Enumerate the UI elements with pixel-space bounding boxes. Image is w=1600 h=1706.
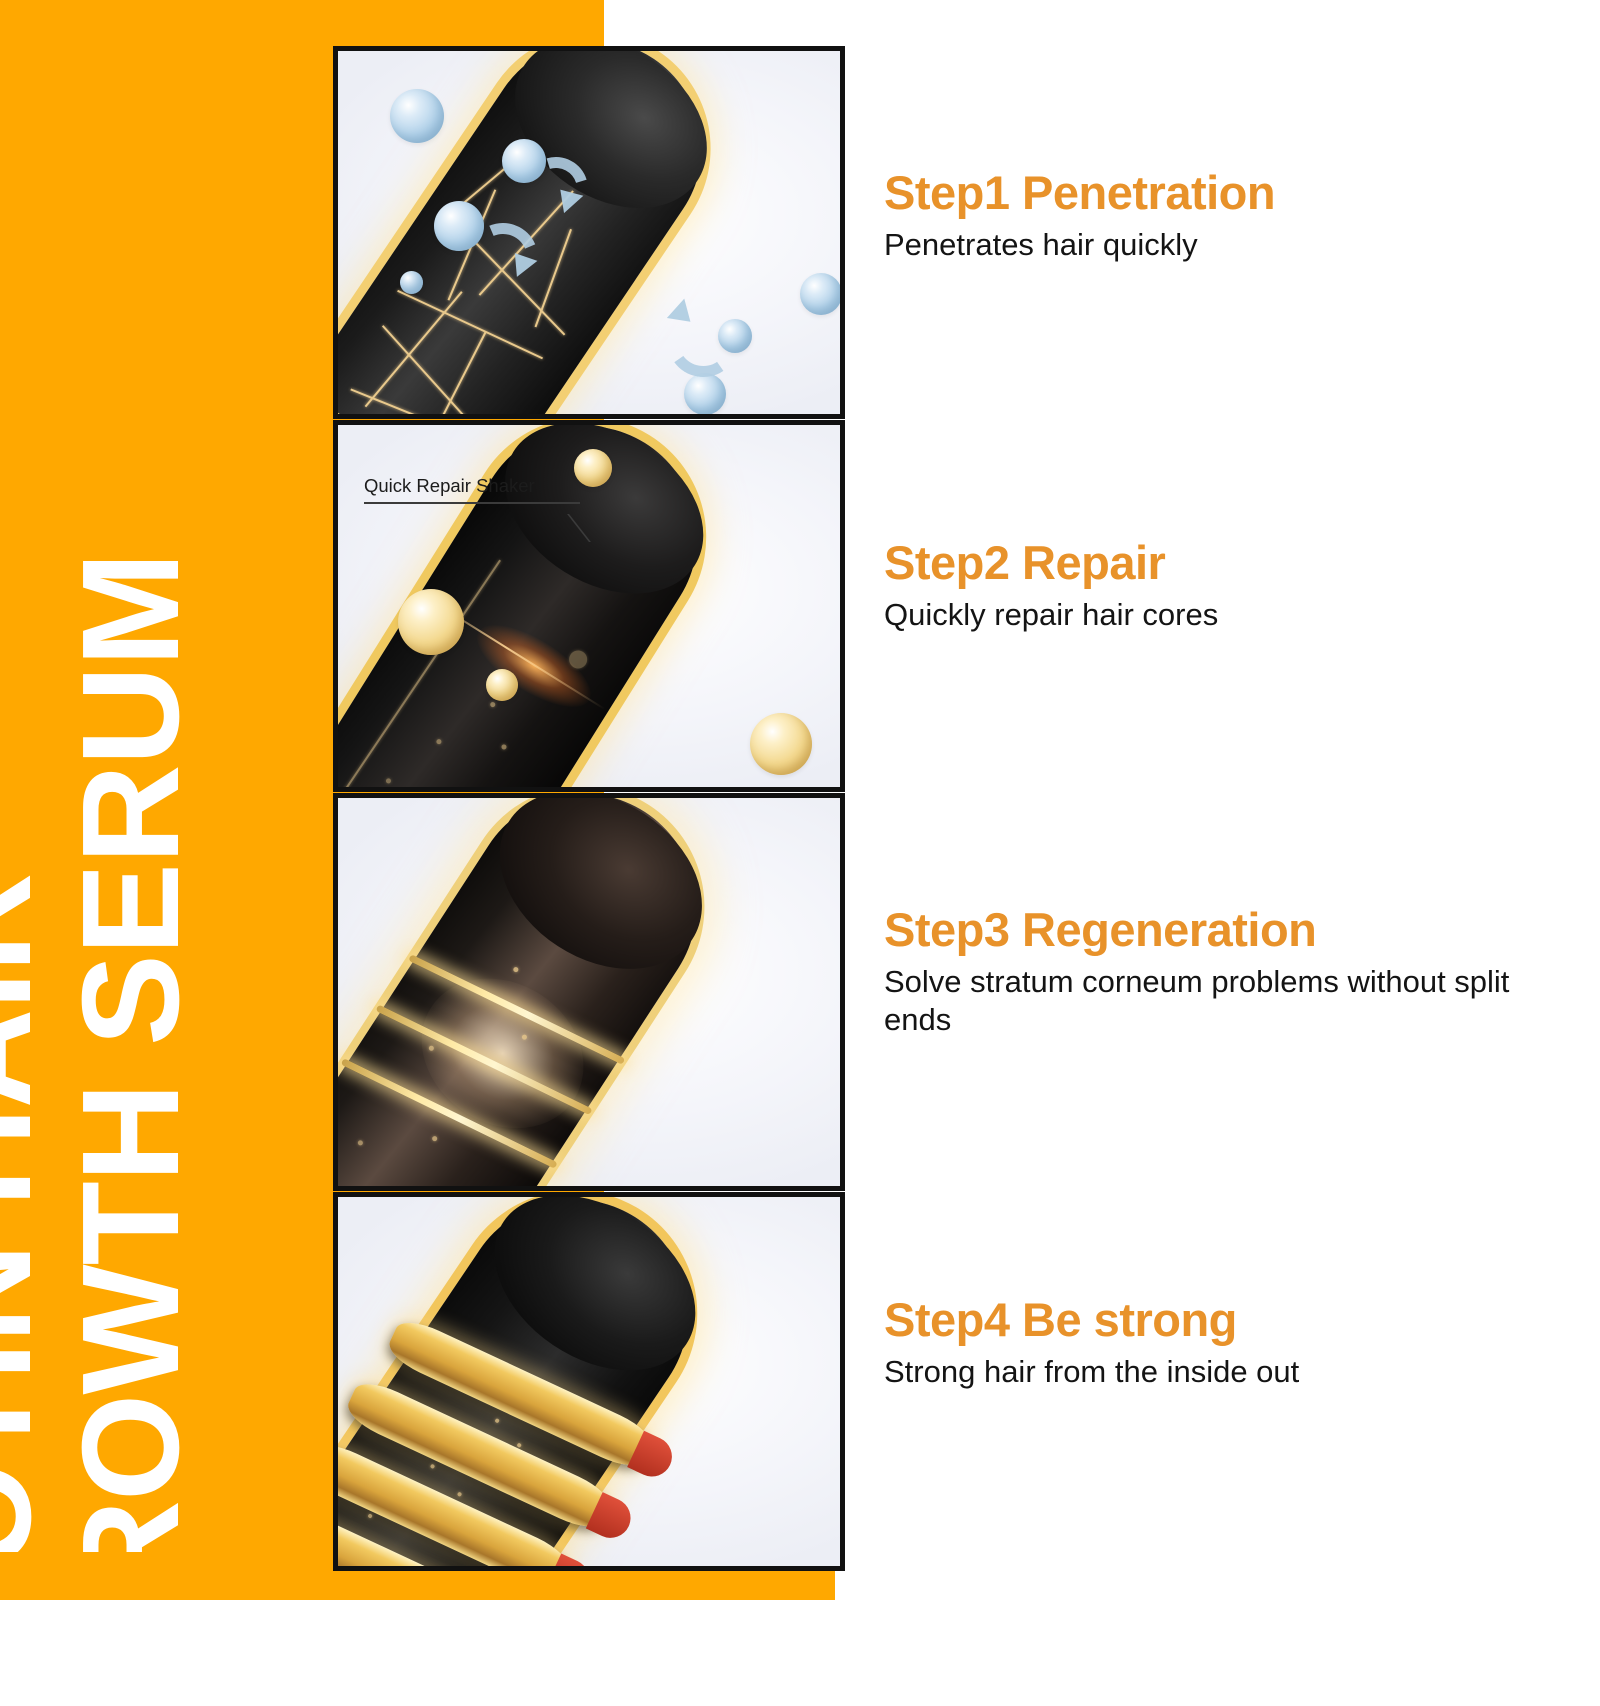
- hair-strand-graphic-regenerating: [338, 798, 840, 1186]
- step-description: Solve stratum corneum problems without s…: [884, 963, 1524, 1039]
- illustration-panel-regeneration: [333, 793, 845, 1191]
- step-description: Strong hair from the inside out: [884, 1353, 1524, 1391]
- step-title: Step4 Be strong: [884, 1295, 1584, 1346]
- serum-droplet-gold: [486, 669, 518, 701]
- hair-shaft-cap: [466, 793, 735, 1006]
- step-block-regeneration: Step3 Regeneration Solve stratum corneum…: [884, 905, 1584, 1038]
- step-block-repair: Step2 Repair Quickly repair hair cores: [884, 538, 1584, 634]
- steps-text-column: Step1 Penetration Penetrates hair quickl…: [884, 0, 1584, 1600]
- cuticle-band-edge: [586, 1492, 637, 1544]
- hair-strand-graphic-strong: [338, 1197, 840, 1566]
- step-description: Quickly repair hair cores: [884, 596, 1524, 634]
- serum-droplet: [800, 273, 842, 315]
- serum-droplet-gold: [750, 713, 812, 775]
- brand-title-line-2: GROWTH SERUM: [62, 553, 200, 1706]
- illustration-panel-repair: Quick Repair Shaker: [333, 420, 845, 792]
- serum-droplet-gold: [398, 589, 464, 655]
- step-block-penetration: Step1 Penetration Penetrates hair quickl…: [884, 168, 1584, 264]
- step-description: Penetrates hair quickly: [884, 226, 1524, 264]
- illustration-panel-be-strong: [333, 1192, 845, 1571]
- step-title: Step1 Penetration: [884, 168, 1584, 219]
- illustration-panel-penetration: [333, 46, 845, 419]
- step-title: Step3 Regeneration: [884, 905, 1584, 956]
- cuticle-band-edge: [627, 1431, 678, 1483]
- serum-droplet: [684, 373, 726, 415]
- serum-droplet: [390, 89, 444, 143]
- annotation-quick-repair-shaker: Quick Repair Shaker: [364, 475, 580, 504]
- product-illustration-column: Quick Repair Shaker: [333, 46, 845, 1571]
- serum-droplet: [400, 271, 423, 294]
- hair-shaft-strong: [333, 1192, 733, 1571]
- annotation-label: Quick Repair Shaker: [364, 475, 580, 497]
- hair-shaft-regenerating: [333, 793, 740, 1191]
- step-block-be-strong: Step4 Be strong Strong hair from the ins…: [884, 1295, 1584, 1391]
- annotation-underline: [364, 502, 580, 504]
- cuticle-band-edge: [544, 1553, 595, 1571]
- step-title: Step2 Repair: [884, 538, 1584, 589]
